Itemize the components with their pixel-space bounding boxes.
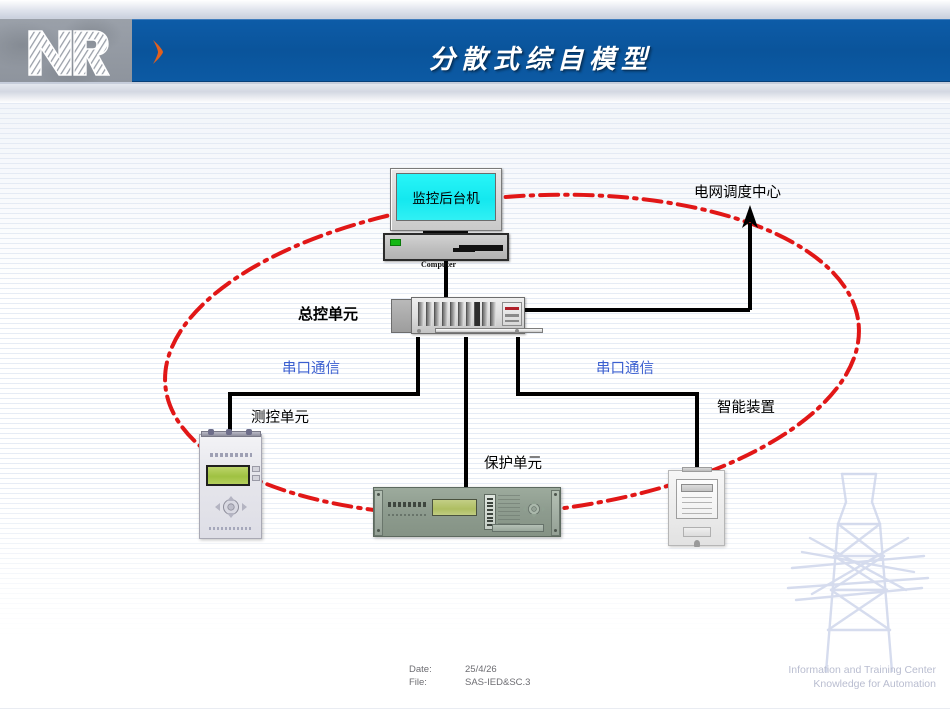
- logo-panel: [0, 19, 132, 82]
- device-brand-mark: [388, 502, 426, 507]
- device-led: [487, 520, 493, 522]
- measurement-control-unit-label: 测控单元: [251, 406, 309, 427]
- device-led: [487, 502, 493, 504]
- rack-base-rail: [435, 328, 543, 333]
- monitor-screen-label: 监控后台机: [412, 187, 480, 207]
- meter-terminal: [694, 540, 700, 547]
- monitor-screen: 监控后台机: [396, 173, 496, 221]
- meter-print-line: [682, 502, 712, 503]
- device-led: [487, 513, 493, 515]
- rack-card: [474, 302, 480, 326]
- rack-stud: [417, 329, 421, 333]
- rack-card: [482, 302, 488, 326]
- device-lcd: [432, 499, 477, 516]
- device-brand-mark: [210, 453, 252, 457]
- page-title: 分散式综自模型: [132, 19, 950, 82]
- device-led: [487, 505, 493, 507]
- rack-status-panel: [502, 302, 522, 326]
- footer-file-value: SAS-IED&SC.3: [465, 676, 530, 689]
- monitor: 监控后台机: [390, 168, 502, 231]
- device-knob: [226, 429, 232, 435]
- device-side-button[interactable]: [252, 466, 260, 472]
- device-card-slot: [492, 524, 544, 532]
- rack-card: [490, 302, 496, 326]
- device-knob: [208, 429, 214, 435]
- footer-org-line-1: Information and Training Center: [788, 663, 936, 677]
- device-led: [487, 509, 493, 511]
- footer-metadata: Date: 25/4/26 File: SAS-IED&SC.3: [409, 663, 530, 689]
- mount-screw: [377, 529, 380, 532]
- rack-stud: [515, 329, 519, 333]
- footer-date-key: Date:: [409, 663, 465, 676]
- serial-link-right-label: 串口通信: [596, 357, 654, 378]
- rack-front-panel: [411, 297, 525, 334]
- computer-caption: Computer: [421, 260, 456, 269]
- intelligent-device-label: 智能装置: [717, 396, 775, 417]
- mount-screw: [554, 529, 557, 532]
- slide-root: 监控后台机 Computer: [0, 0, 950, 713]
- device-keypad[interactable]: [214, 495, 248, 519]
- device-model-mark: [388, 514, 428, 516]
- serial-link-left-label: 串口通信: [282, 357, 340, 378]
- rack-indicator: [505, 320, 519, 322]
- device-lcd: [206, 465, 250, 486]
- device-side-button[interactable]: [252, 475, 260, 481]
- rack-card-slots: [418, 302, 496, 326]
- footer-organization: Information and Training Center Knowledg…: [788, 663, 936, 691]
- measurement-control-unit-device: [199, 434, 262, 539]
- meter-print-line: [682, 513, 712, 514]
- rack-indicator: [505, 314, 519, 317]
- device-keypad[interactable]: [522, 500, 546, 518]
- footer-divider: [0, 708, 950, 709]
- meter-terminal-cover: [683, 527, 711, 537]
- rack-alarm-indicator: [505, 307, 519, 310]
- rack-card: [466, 302, 472, 326]
- device-led: [487, 517, 493, 519]
- rack-card: [418, 302, 424, 326]
- nr-logo-icon: [26, 25, 110, 77]
- drive-slot-secondary: [453, 248, 475, 252]
- main-control-unit-label: 总控单元: [298, 303, 358, 324]
- diagram-layer: 监控后台机 Computer: [0, 0, 950, 713]
- slide-header: 分散式综自模型: [0, 0, 950, 103]
- device-knob: [246, 429, 252, 435]
- rack-card: [426, 302, 432, 326]
- rack-card: [434, 302, 440, 326]
- header-bottom-strip: [0, 84, 950, 103]
- meter-register-window: [681, 484, 713, 492]
- protection-unit-device: [373, 487, 561, 537]
- footer-date-value: 25/4/26: [465, 663, 530, 676]
- mount-screw: [554, 493, 557, 496]
- power-led-icon: [390, 239, 401, 246]
- rack-card: [458, 302, 464, 326]
- device-footer-mark: [209, 527, 253, 530]
- rack-card: [450, 302, 456, 326]
- rack-side-panel: [391, 299, 413, 333]
- footer-org-line-2: Knowledge for Automation: [788, 677, 936, 691]
- dispatch-center-label: 电网调度中心: [694, 181, 781, 202]
- meter-top-cap: [682, 467, 712, 472]
- meter-face: [676, 479, 718, 519]
- intelligent-device-meter: [668, 470, 725, 546]
- main-control-unit-chassis: [391, 297, 525, 337]
- mount-screw: [377, 493, 380, 496]
- rack-card: [442, 302, 448, 326]
- meter-print-line: [682, 497, 712, 498]
- footer-file-key: File:: [409, 676, 465, 689]
- protection-unit-label: 保护单元: [484, 452, 542, 473]
- header-top-strip: [0, 0, 950, 17]
- meter-print-line: [682, 508, 712, 509]
- slide-footer: Date: 25/4/26 File: SAS-IED&SC.3 Informa…: [0, 653, 950, 713]
- computer-case: [383, 233, 509, 261]
- device-led: [487, 498, 493, 500]
